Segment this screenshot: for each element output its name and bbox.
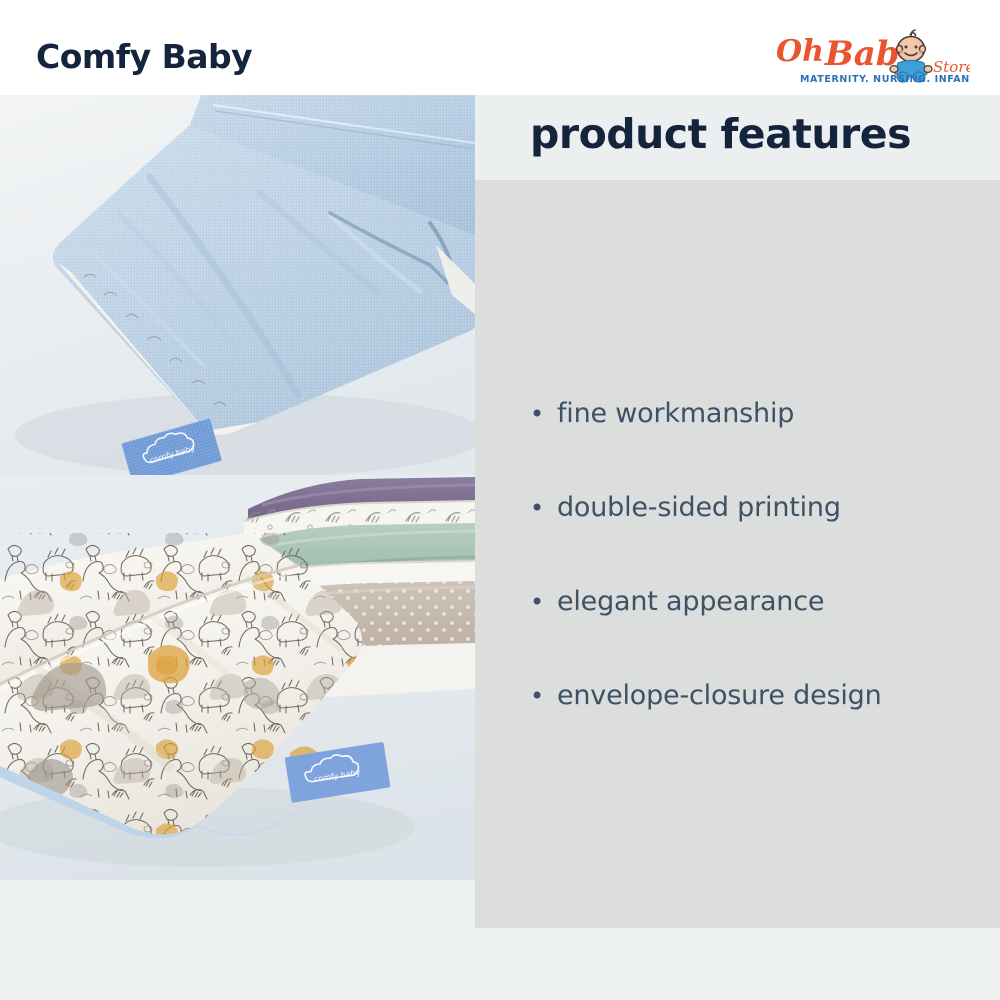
- logo-tagline: MATERNITY. NURSING. INFANT: [800, 74, 970, 85]
- feature-item: • elegant appearance: [530, 586, 824, 617]
- features-header-band: product features: [475, 95, 1000, 180]
- feature-label: envelope-closure design: [557, 680, 882, 711]
- feature-list: • fine workmanship • double-sided printi…: [475, 180, 1000, 928]
- feature-label: double-sided printing: [557, 492, 841, 523]
- features-panel: • fine workmanship • double-sided printi…: [475, 180, 1000, 928]
- bullet-icon: •: [530, 590, 544, 614]
- product-photo-column: comfy baby: [0, 95, 475, 880]
- feature-item: • envelope-closure design: [530, 680, 882, 711]
- oh-baby-store-logo: Oh Baby: [770, 27, 970, 87]
- feature-label: fine workmanship: [557, 398, 794, 429]
- bullet-icon: •: [530, 684, 544, 708]
- product-photo-blue-pillow: comfy baby: [0, 95, 475, 475]
- feature-item: • double-sided printing: [530, 492, 841, 523]
- product-photo-dino-pillow: comfy baby: [0, 475, 475, 880]
- brand-title: Comfy Baby: [36, 40, 252, 73]
- poster-canvas: Comfy Baby Oh Baby: [0, 0, 1000, 1000]
- bullet-icon: •: [530, 496, 544, 520]
- header-bar: Comfy Baby Oh Baby: [0, 0, 1000, 95]
- feature-label: elegant appearance: [557, 586, 824, 617]
- feature-item: • fine workmanship: [530, 398, 794, 429]
- page-title: product features: [530, 114, 911, 155]
- logo-name-part1: Oh: [776, 34, 824, 69]
- bullet-icon: •: [530, 402, 544, 426]
